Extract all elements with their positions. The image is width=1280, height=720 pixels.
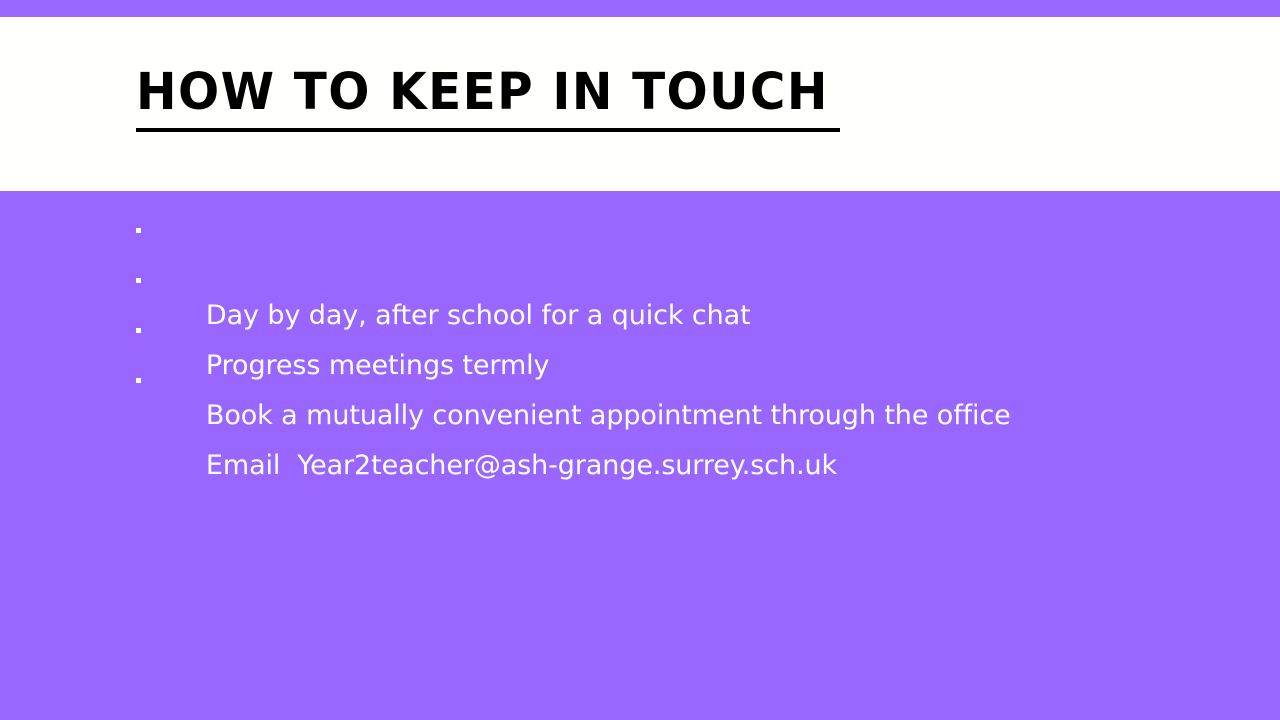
list-item-email: Email Year2teacher@ash-grange.surrey.sch… xyxy=(206,444,837,487)
list-item: Day by day, after school for a quick cha… xyxy=(136,208,1216,258)
list-item: Book a mutually convenient appointment t… xyxy=(136,308,1216,358)
bullet-dot-icon xyxy=(136,328,141,333)
title-block: How to keep in touch xyxy=(136,62,1196,124)
bullet-list: Day by day, after school for a quick cha… xyxy=(136,208,1216,408)
bullet-dot-icon xyxy=(136,278,141,283)
slide: How to keep in touch Day by day, after s… xyxy=(0,0,1280,720)
top-accent-bar xyxy=(0,0,1280,17)
list-item: Email Year2teacher@ash-grange.surrey.sch… xyxy=(136,358,1216,408)
page-title: How to keep in touch xyxy=(136,62,1143,124)
bullet-dot-icon xyxy=(136,378,141,383)
list-item: Progress meetings termly xyxy=(136,258,1216,308)
title-underline xyxy=(136,128,840,132)
bullet-dot-icon xyxy=(136,228,141,233)
